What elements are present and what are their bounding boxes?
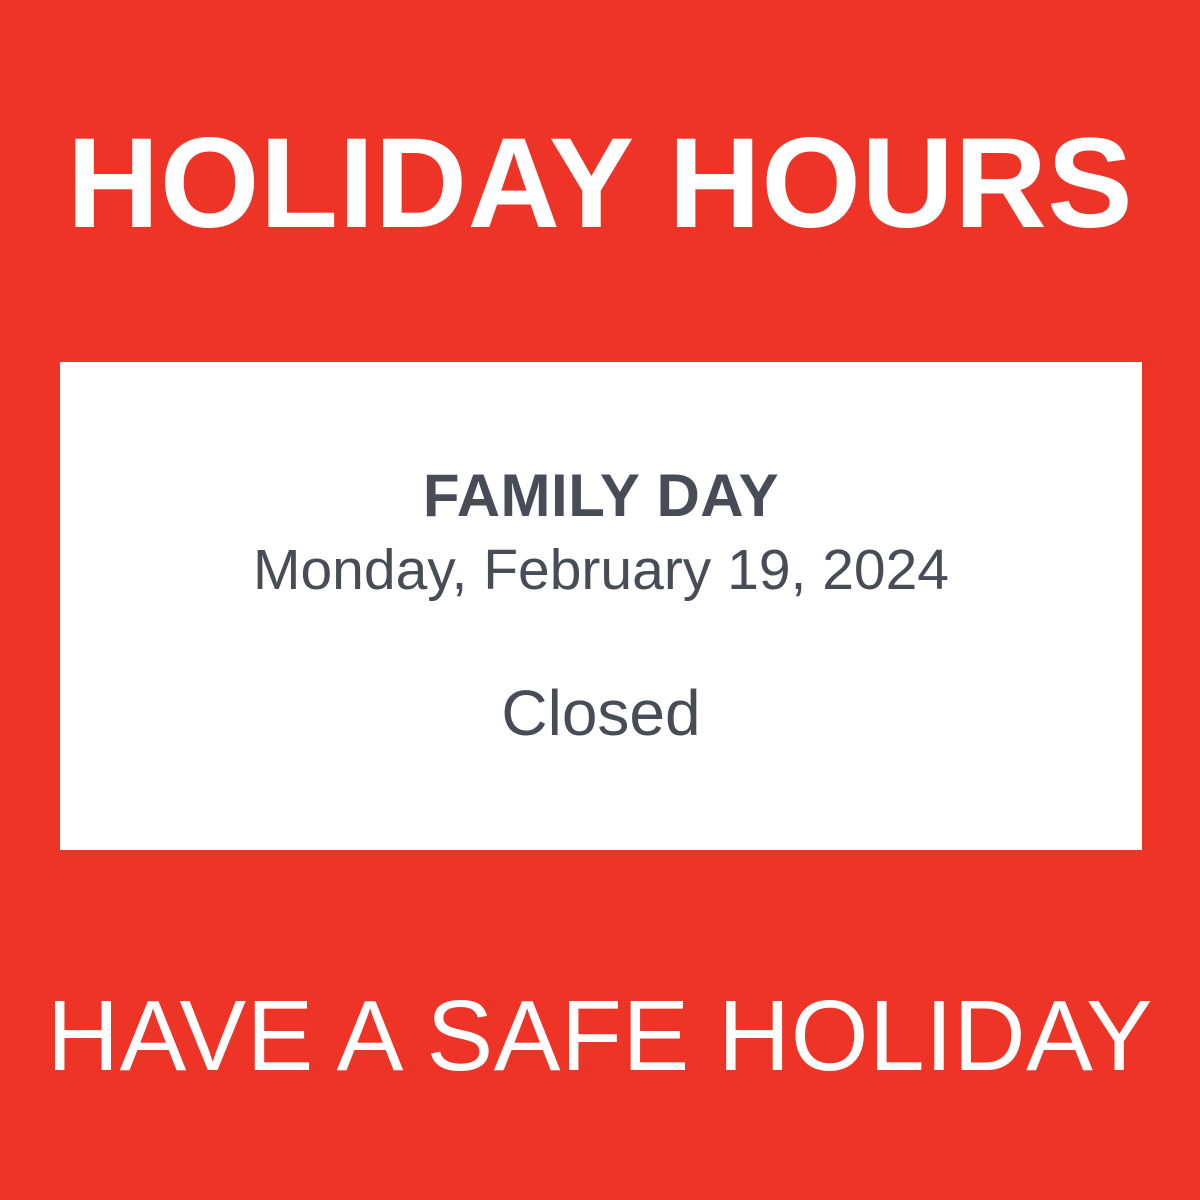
footer-banner: HAVE A SAFE HOLIDAY bbox=[0, 850, 1200, 1200]
page-title: HOLIDAY HOURS bbox=[67, 120, 1133, 248]
holiday-hours-poster: HOLIDAY HOURS FAMILY DAY Monday, Februar… bbox=[0, 0, 1200, 1200]
footer-message: HAVE A SAFE HOLIDAY bbox=[47, 986, 1153, 1086]
holiday-name: FAMILY DAY bbox=[96, 464, 1106, 529]
holiday-info-content: FAMILY DAY Monday, February 19, 2024 Clo… bbox=[96, 464, 1106, 749]
headline-banner: HOLIDAY HOURS bbox=[0, 0, 1200, 362]
holiday-date: Monday, February 19, 2024 bbox=[96, 536, 1106, 606]
status-badge: Closed bbox=[96, 678, 1106, 748]
holiday-info-card: FAMILY DAY Monday, February 19, 2024 Clo… bbox=[60, 362, 1142, 850]
